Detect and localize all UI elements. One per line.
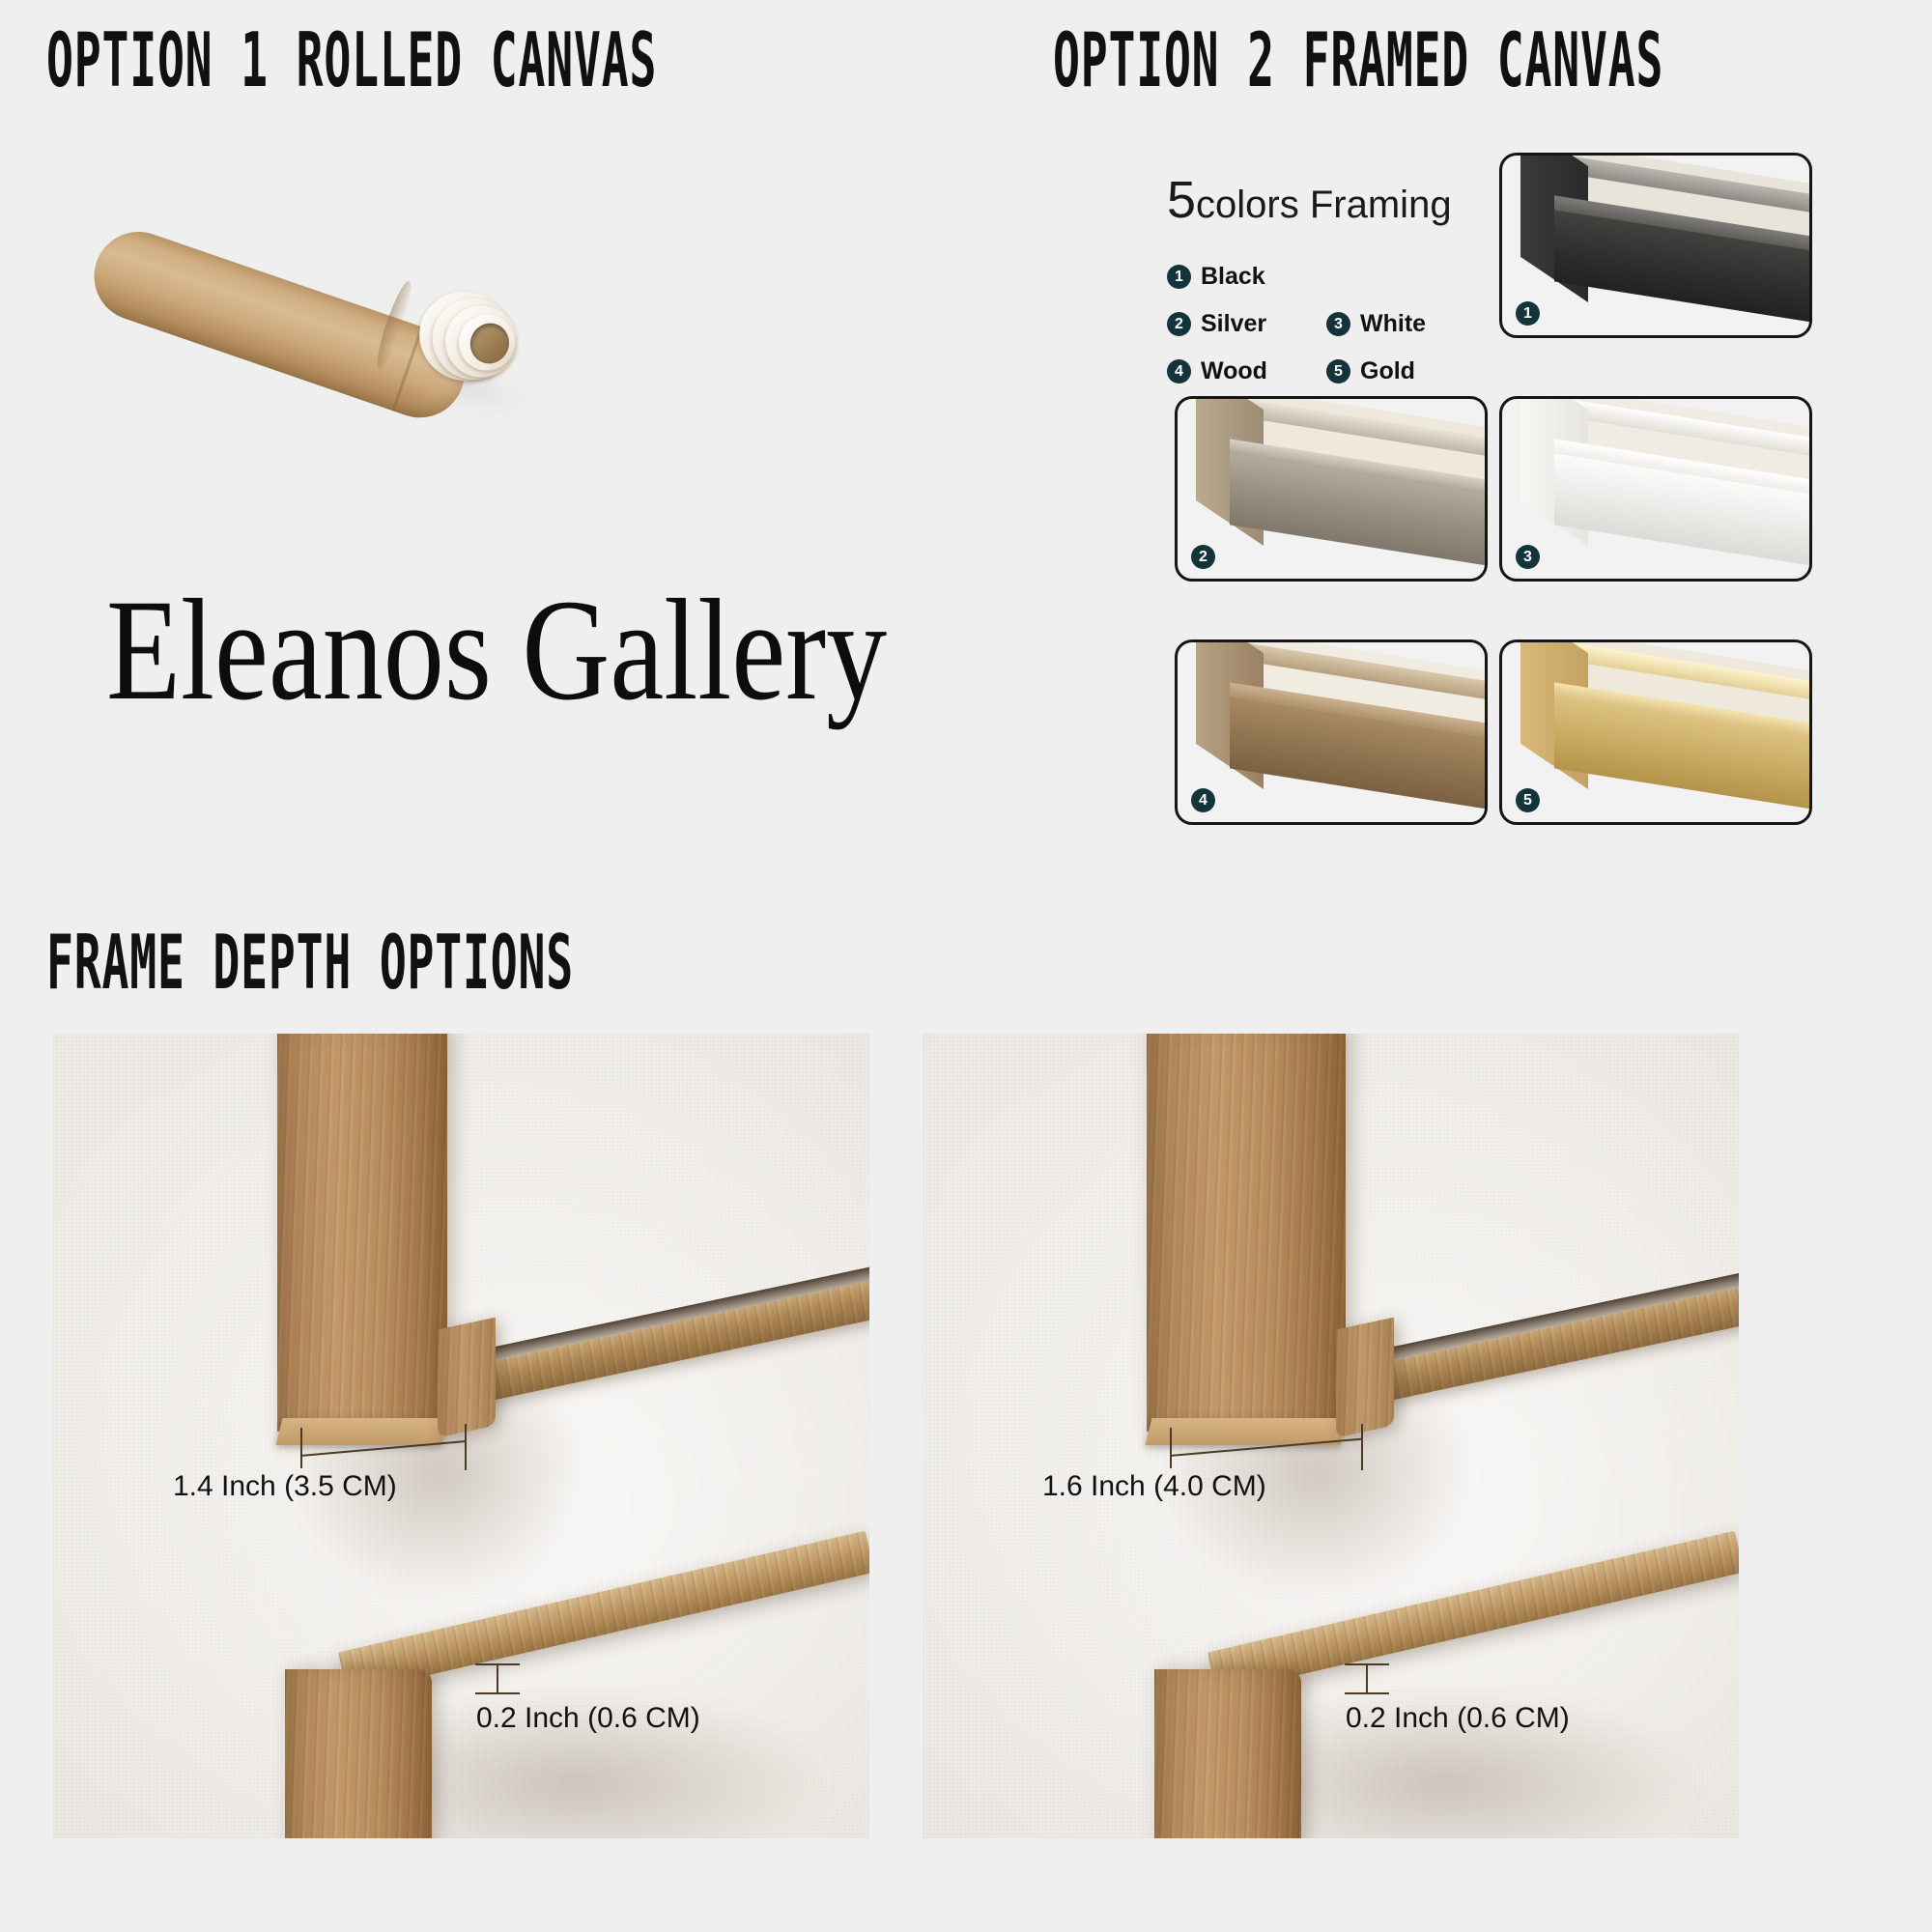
swatch-badge-3: 3 [1516, 545, 1540, 569]
legend-item-black[interactable]: 1 Black [1167, 263, 1293, 291]
frame-swatch-wood[interactable]: 4 [1175, 639, 1488, 825]
canvas-thickness-label: 0.2 Inch (0.6 CM) [1346, 1702, 1570, 1735]
dim-line-thickness-bottom [475, 1692, 520, 1694]
frame-width-label: 1.4 Inch (3.5 CM) [173, 1470, 397, 1503]
dim-tick-thickness [1366, 1663, 1368, 1692]
badge-number-5: 5 [1326, 359, 1350, 384]
legend-item-wood[interactable]: 4 Wood [1167, 357, 1293, 385]
frame-vertical-bar [1147, 1034, 1346, 1432]
canvas-thickness-label: 0.2 Inch (0.6 CM) [476, 1702, 700, 1735]
dim-tick-left [1170, 1428, 1172, 1468]
dim-tick-thickness [497, 1663, 498, 1692]
framing-headline-text: colors Framing [1196, 184, 1452, 226]
legend-item-white[interactable]: 3 White [1326, 310, 1461, 338]
frame-swatch-black[interactable]: 1 [1499, 153, 1812, 338]
frame-depth-photo-1-4-inch: 1.4 Inch (3.5 CM) 0.2 Inch (0.6 CM) [53, 1034, 869, 1838]
frame-vertical-bar [277, 1034, 447, 1432]
wood-grain [277, 1034, 447, 1432]
wood-grain [285, 1669, 432, 1838]
wood-grain [1147, 1034, 1346, 1432]
legend-row: 4 Wood 5 Gold [1167, 357, 1486, 385]
wood-grain [438, 1318, 496, 1438]
frame-miter-joint [438, 1318, 496, 1438]
frame-corner-render [1178, 642, 1485, 822]
wood-grain [1336, 1318, 1394, 1438]
legend-label-gold: Gold [1360, 357, 1461, 385]
frame-width-label: 1.6 Inch (4.0 CM) [1042, 1470, 1266, 1503]
framing-count: 5 [1167, 171, 1196, 229]
frame-swatch-silver[interactable]: 2 [1175, 396, 1488, 582]
wood-grain [1154, 1669, 1301, 1838]
legend-row: 1 Black [1167, 263, 1486, 291]
dim-tick-left [300, 1428, 302, 1468]
swatch-badge-1: 1 [1516, 301, 1540, 326]
rolled-canvas-tube-image [87, 164, 589, 444]
legend-label-white: White [1360, 310, 1461, 338]
tube-body [82, 220, 476, 430]
dim-tick-right [465, 1424, 467, 1470]
frame-corner-render [1502, 156, 1809, 335]
swatch-badge-4: 4 [1191, 788, 1215, 812]
legend-label-black: Black [1201, 263, 1293, 291]
frame-swatch-white[interactable]: 3 [1499, 396, 1812, 582]
option-2-title: OPTION 2 FRAMED CANVAS [1053, 15, 1663, 103]
frame-lower-bar [285, 1669, 432, 1838]
swatch-badge-2: 2 [1191, 545, 1215, 569]
legend-label-silver: Silver [1201, 310, 1293, 338]
brand-logo: Eleanos Gallery [106, 578, 887, 723]
legend-item-silver[interactable]: 2 Silver [1167, 310, 1293, 338]
frame-corner-render [1502, 399, 1809, 579]
frame-corner-render [1178, 399, 1485, 579]
frame-corner-render [1502, 642, 1809, 822]
dim-line-thickness-bottom [1345, 1692, 1389, 1694]
frame-lower-bar [1154, 1669, 1301, 1838]
legend-item-gold[interactable]: 5 Gold [1326, 357, 1461, 385]
frame-depth-photo-1-6-inch: 1.6 Inch (4.0 CM) 0.2 Inch (0.6 CM) [923, 1034, 1739, 1838]
option-1-title: OPTION 1 ROLLED CANVAS [46, 15, 657, 103]
frame-miter-joint [1336, 1318, 1394, 1438]
swatch-badge-5: 5 [1516, 788, 1540, 812]
framing-legend: 5colors Framing 1 Black 2 Silver 3 White… [1167, 170, 1486, 405]
badge-number-3: 3 [1326, 312, 1350, 336]
frame-depth-title: FRAME DEPTH OPTIONS [46, 918, 574, 1006]
frame-swatch-gold[interactable]: 5 [1499, 639, 1812, 825]
framing-headline: 5colors Framing [1167, 170, 1486, 230]
badge-number-2: 2 [1167, 312, 1191, 336]
legend-label-wood: Wood [1201, 357, 1293, 385]
badge-number-4: 4 [1167, 359, 1191, 384]
framing-option-list: 1 Black 2 Silver 3 White 4 Wood 5 Gold [1167, 263, 1486, 385]
dim-tick-right [1361, 1424, 1363, 1470]
badge-number-1: 1 [1167, 265, 1191, 289]
legend-row: 2 Silver 3 White [1167, 310, 1486, 338]
